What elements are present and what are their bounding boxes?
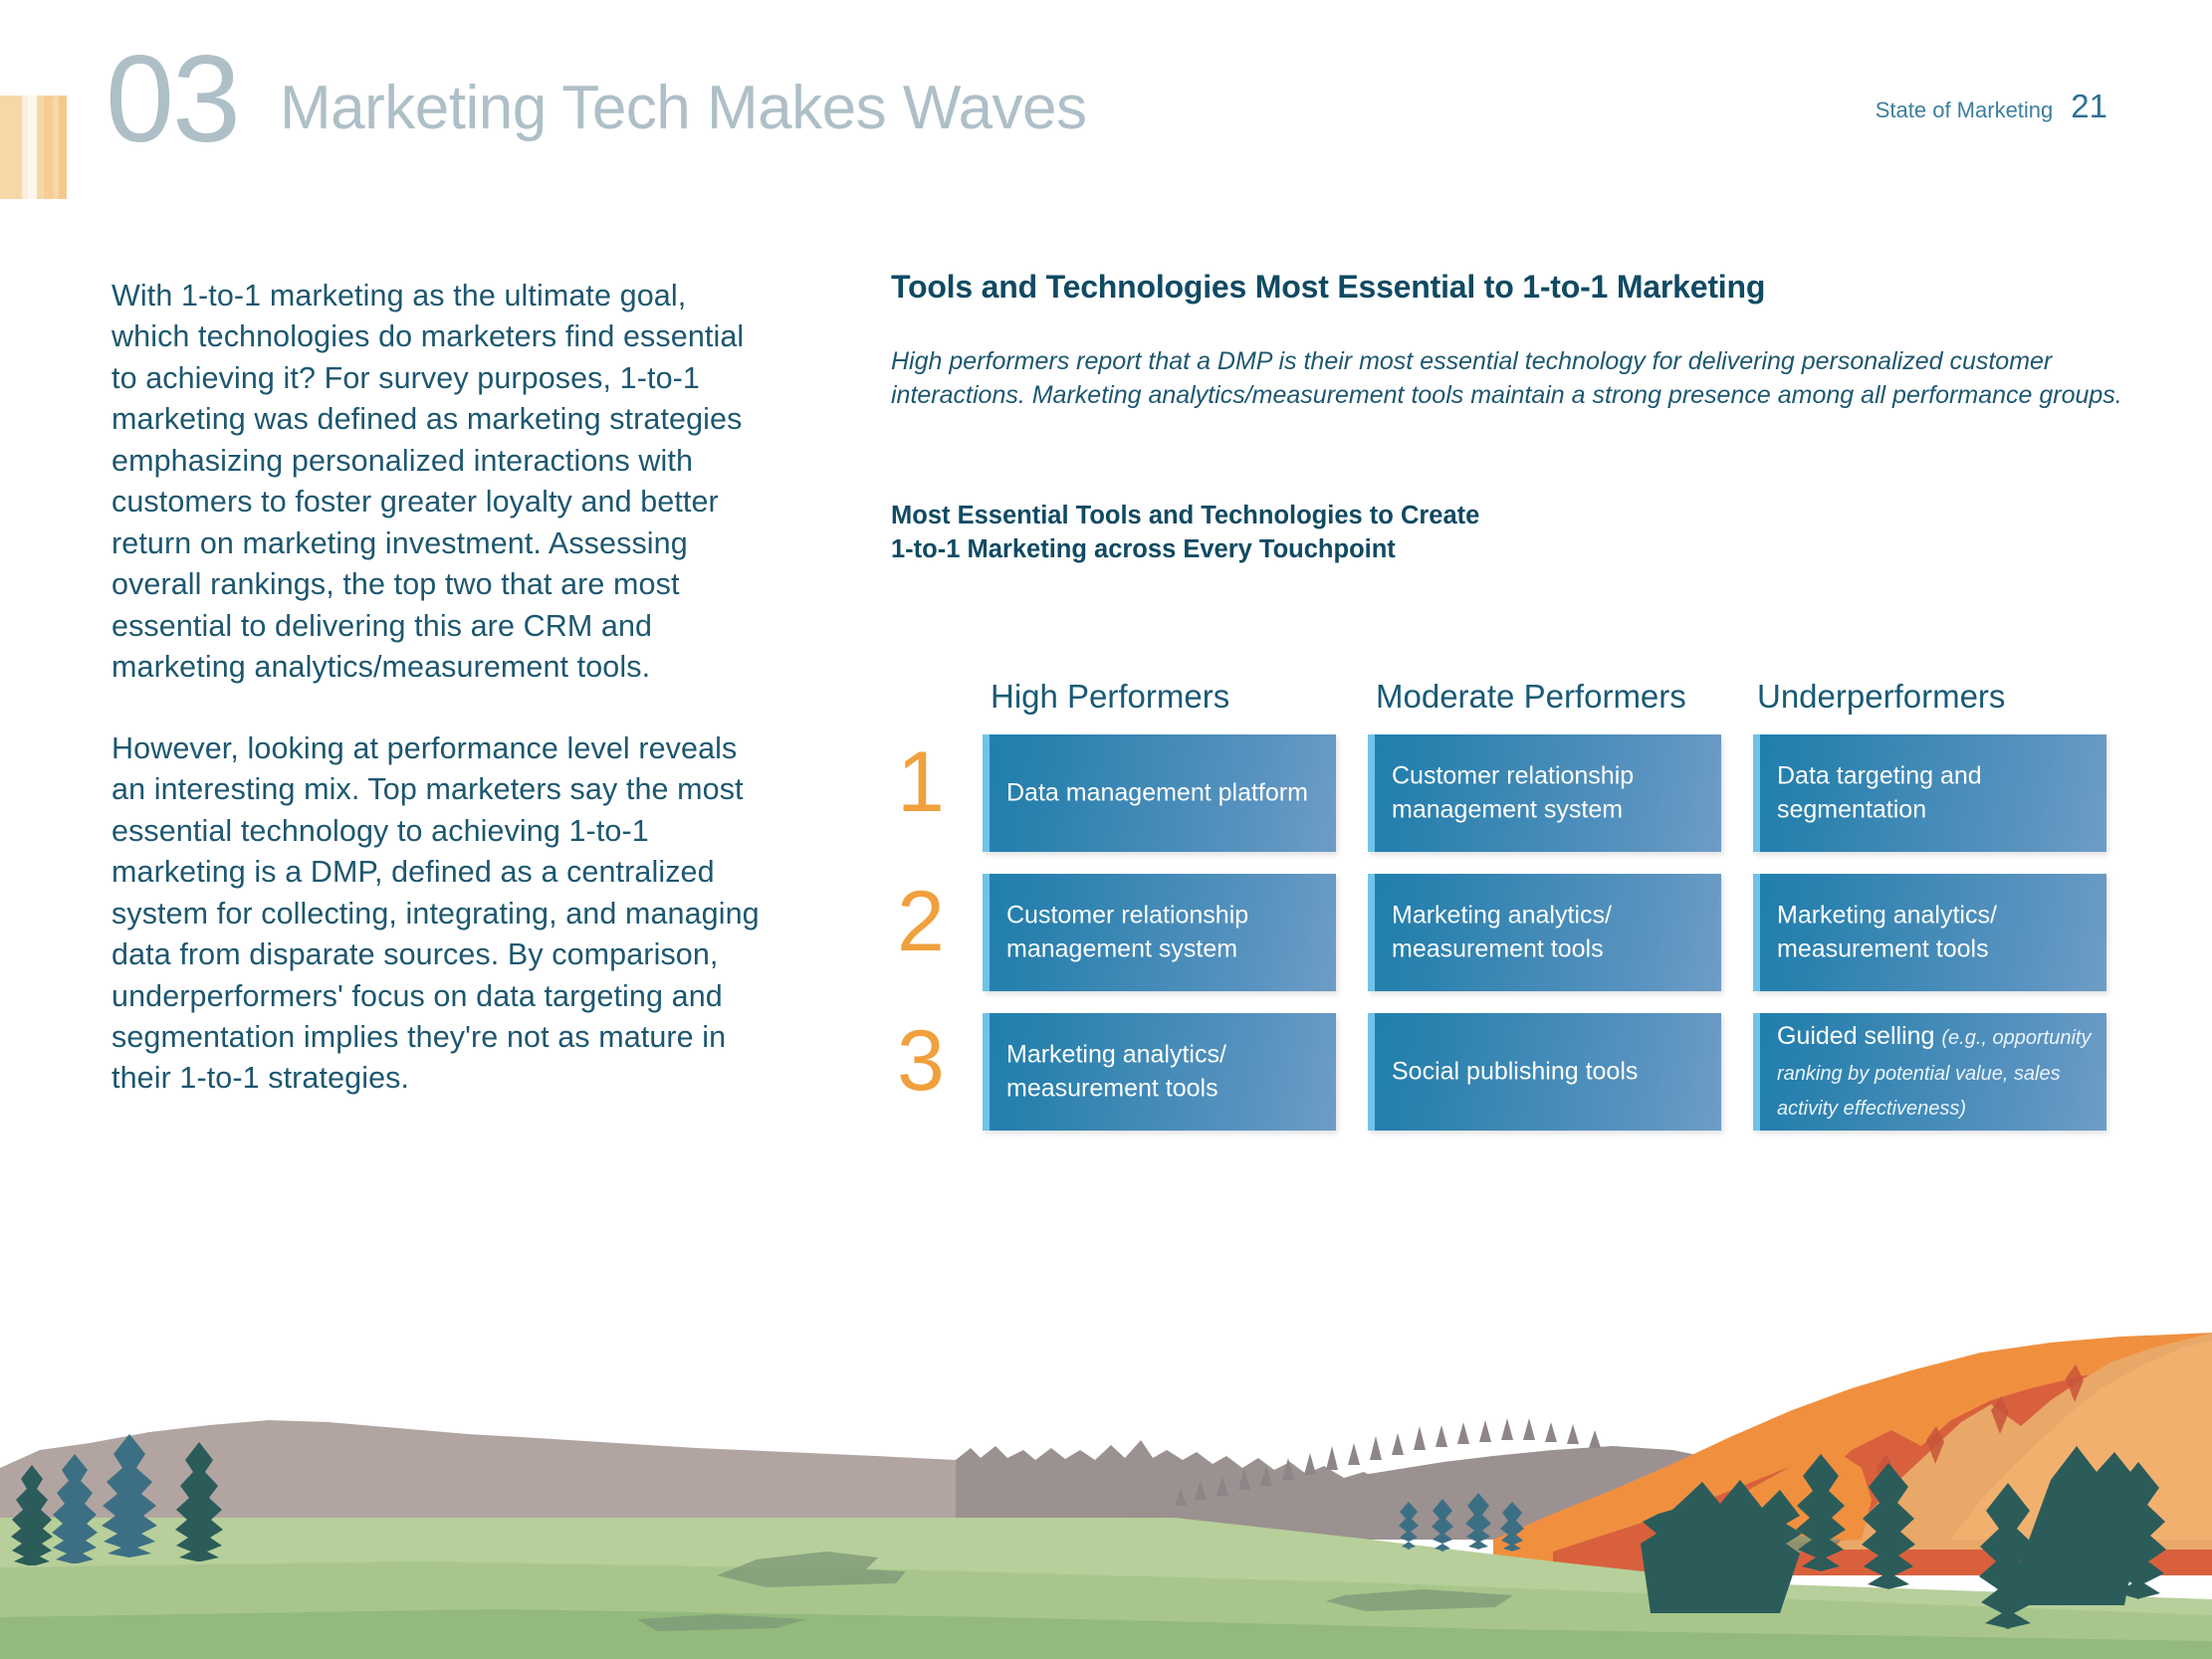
matrix-cell: Social publishing tools: [1368, 1013, 1721, 1131]
rank-number-1: 1: [891, 734, 983, 852]
accent-bar-1: [0, 96, 22, 199]
cell-label: Marketing analytics/ measurement tools: [1006, 1039, 1322, 1106]
body-paragraph-2: However, looking at performance level re…: [111, 728, 769, 1100]
cell-label: Marketing analytics/ measurement tools: [1392, 900, 1707, 966]
matrix-row: 3 Marketing analytics/ measurement tools…: [891, 1013, 2115, 1131]
cell-label: Data targeting and segmentation: [1777, 760, 2093, 827]
mountain-valley-landscape-illustration: [0, 1301, 2212, 1659]
rank-number-3: 3: [891, 1013, 983, 1131]
body-text-column: With 1-to-1 marketing as the ultimate go…: [111, 276, 769, 1140]
chapter-number: 03: [106, 38, 239, 161]
accent-bar-4: [37, 96, 44, 199]
matrix-cell: Data management platform: [983, 734, 1336, 852]
matrix-cell: Marketing analytics/ measurement tools: [1753, 874, 2106, 991]
cell-label: Customer relationship management system: [1392, 760, 1707, 827]
cell-label: Data management platform: [1006, 776, 1322, 810]
cell-label-with-note: Guided selling (e.g., opportunity rankin…: [1777, 1019, 2093, 1126]
chapter-accent-bars: [0, 96, 67, 199]
matrix-cell: Data targeting and segmentation: [1753, 734, 2106, 852]
figure-title-line-2: 1-to-1 Marketing across Every Touchpoint: [891, 533, 2110, 567]
figure-title: Most Essential Tools and Technologies to…: [891, 500, 2110, 566]
cell-label: Marketing analytics/ measurement tools: [1777, 900, 2093, 966]
section-subtitle: High performers report that a DMP is the…: [891, 345, 2125, 412]
accent-bar-3: [28, 96, 37, 199]
matrix-cell: Marketing analytics/ measurement tools: [983, 1013, 1336, 1131]
running-head-label: State of Marketing: [1876, 98, 2054, 123]
section-heading: Tools and Technologies Most Essential to…: [891, 269, 2110, 306]
cell-label: Guided selling: [1777, 1022, 1941, 1050]
ranking-matrix: High Performers Moderate Performers Unde…: [891, 657, 2115, 1131]
matrix-column-headers: High Performers Moderate Performers Unde…: [891, 657, 2115, 713]
column-header-underperformers: Underperformers: [1753, 680, 2106, 713]
page-number: 21: [2071, 88, 2107, 125]
matrix-cell: Customer relationship management system: [983, 874, 1336, 991]
matrix-cell: Marketing analytics/ measurement tools: [1368, 874, 1721, 991]
column-header-moderate-performers: Moderate Performers: [1368, 680, 1721, 713]
accent-bar-7: [59, 96, 67, 199]
matrix-gap: [1721, 874, 1753, 991]
rank-number-2: 2: [891, 874, 983, 991]
matrix-gap: [1721, 1013, 1753, 1131]
figure-intro-column: Tools and Technologies Most Essential to…: [891, 269, 2110, 566]
chapter-title: Marketing Tech Makes Waves: [280, 78, 1087, 139]
matrix-gap: [1336, 874, 1368, 991]
cell-label: Customer relationship management system: [1006, 900, 1322, 966]
matrix-cell: Customer relationship management system: [1368, 734, 1721, 852]
cell-label: Social publishing tools: [1392, 1055, 1707, 1089]
matrix-cell: Guided selling (e.g., opportunity rankin…: [1753, 1013, 2106, 1131]
matrix-row: 2 Customer relationship management syste…: [891, 874, 2115, 991]
body-paragraph-1: With 1-to-1 marketing as the ultimate go…: [111, 276, 769, 689]
column-header-high-performers: High Performers: [983, 680, 1336, 713]
matrix-gap: [1336, 734, 1368, 852]
running-head: State of Marketing 21: [1876, 88, 2107, 125]
matrix-gap: [1336, 1013, 1368, 1131]
accent-bar-5: [44, 96, 53, 199]
matrix-gap: [1721, 734, 1753, 852]
matrix-row: 1 Data management platform Customer rela…: [891, 734, 2115, 852]
figure-title-line-1: Most Essential Tools and Technologies to…: [891, 500, 2110, 533]
